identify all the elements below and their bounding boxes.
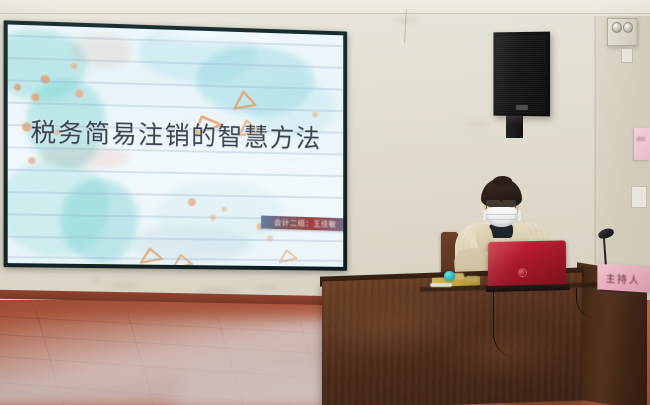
laptop-lid-sheen [488, 240, 566, 288]
podium-wood-grain [322, 272, 582, 405]
host-nameplate: 主持人 [597, 264, 649, 293]
wall-smudge [110, 282, 140, 288]
eyeglasses-bridge [499, 203, 502, 204]
desk-clutter [466, 276, 478, 282]
screen-glare [222, 31, 285, 45]
wall-smudge [88, 278, 102, 282]
host-nameplate-text: 主持人 [606, 270, 641, 287]
wall-sign: 通知 [634, 128, 650, 160]
speaker-mount-bracket [506, 114, 523, 138]
speaker-logo [516, 105, 528, 110]
desk-clutter [430, 283, 452, 287]
desk-teal-object[interactable] [444, 271, 455, 281]
confetti-dot [71, 63, 77, 69]
confetti-dot [14, 84, 21, 91]
speaker-grille [496, 35, 547, 114]
confetti-dot [31, 93, 39, 101]
slide-subtitle-text: 会计二组：王佳敏 [261, 216, 343, 232]
emergency-lamp-icon [623, 22, 633, 33]
triangle-decor-icon [138, 245, 166, 266]
confetti-dot [312, 111, 318, 117]
confetti-dot [222, 207, 227, 212]
wall-speaker [493, 32, 550, 117]
wall-sign-text: 通知 [636, 136, 645, 143]
mask-fold [486, 214, 517, 215]
meeting-room-photo: 税务简易注销的智慧方法 会计二组：王佳敏 通知 [0, 0, 650, 405]
laptop-power-cable [493, 289, 516, 357]
slide-title: 税务简易注销的智慧方法 [8, 112, 344, 156]
podium-front-panel [322, 272, 582, 405]
emergency-exit-light [607, 18, 638, 47]
presenter-hair-bun [493, 176, 512, 186]
confetti-dot [28, 157, 35, 164]
mask-ear-loop [518, 210, 521, 221]
wall-smudge [255, 285, 279, 290]
watercolor-blob [61, 178, 138, 264]
mask-fold [486, 219, 517, 220]
emergency-lamp-icon [612, 22, 622, 33]
ceiling-edge-line [0, 13, 650, 14]
triangle-decor-icon [230, 87, 260, 114]
laptop-lid[interactable] [488, 240, 566, 288]
wall-plate [621, 48, 633, 63]
slide-surface: 税务简易注销的智慧方法 会计二组：王佳敏 [8, 24, 344, 266]
triangle-decor-icon [277, 247, 300, 267]
presentation-screen[interactable]: 税务简易注销的智慧方法 会计二组：王佳敏 [4, 20, 348, 271]
wall-smudge [466, 120, 492, 128]
confetti-dot [75, 89, 83, 97]
light-switch-plate[interactable] [631, 186, 647, 208]
confetti-dot [188, 198, 196, 206]
slide-subtitle-banner: 会计二组：王佳敏 [261, 216, 343, 232]
